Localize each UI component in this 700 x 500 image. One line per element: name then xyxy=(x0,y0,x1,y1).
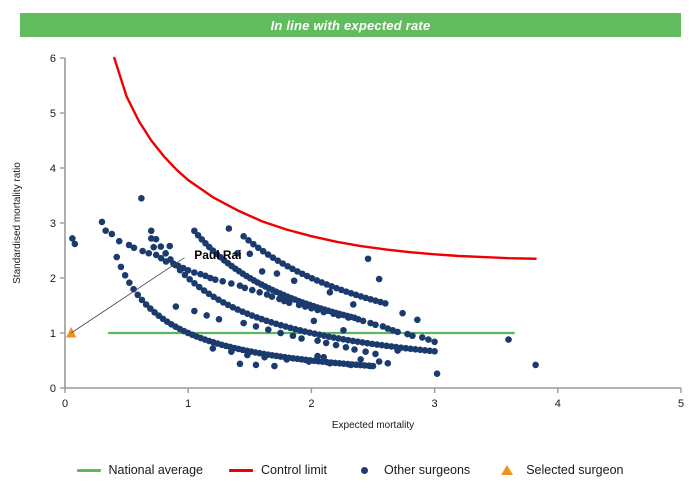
data-point xyxy=(367,363,374,370)
x-tick-label: 2 xyxy=(308,398,314,410)
data-point xyxy=(376,276,383,283)
data-point xyxy=(148,228,155,235)
data-point xyxy=(365,255,372,262)
data-point xyxy=(419,334,426,341)
data-point xyxy=(191,308,198,315)
data-point xyxy=(131,244,138,251)
line-icon xyxy=(77,469,101,472)
data-point xyxy=(126,279,133,286)
data-point xyxy=(348,362,355,369)
status-banner-text: In line with expected rate xyxy=(271,19,431,32)
legend-item-selected-surgeon[interactable]: Selected surgeon xyxy=(496,463,623,477)
y-tick-label: 3 xyxy=(50,218,56,230)
y-tick-label: 0 xyxy=(50,383,56,395)
data-point xyxy=(139,248,146,255)
data-point xyxy=(362,348,369,355)
data-point xyxy=(253,323,260,330)
data-point xyxy=(118,264,125,271)
data-point xyxy=(163,258,170,265)
data-point xyxy=(306,358,313,365)
data-point xyxy=(376,358,383,365)
data-point xyxy=(244,352,251,359)
data-point xyxy=(240,320,247,327)
data-point xyxy=(409,332,416,339)
legend-item-label: Selected surgeon xyxy=(526,463,623,477)
data-point xyxy=(271,363,278,370)
funnel-plot-svg: 0123456012345Expected mortalityStandardi… xyxy=(0,40,700,450)
data-point xyxy=(399,310,406,317)
data-point xyxy=(185,267,192,274)
line-icon xyxy=(229,469,253,472)
y-tick-label: 1 xyxy=(50,328,56,340)
data-point xyxy=(249,287,256,294)
x-tick-label: 1 xyxy=(185,398,191,410)
data-point xyxy=(414,317,421,324)
data-point xyxy=(532,362,539,369)
legend-item-label: Other surgeons xyxy=(384,463,470,477)
data-point xyxy=(162,250,169,257)
data-point xyxy=(311,318,318,325)
selected-surgeon-marker[interactable] xyxy=(66,327,76,338)
x-tick-label: 4 xyxy=(555,398,561,410)
data-point xyxy=(308,305,315,312)
data-point xyxy=(148,235,155,242)
data-point xyxy=(434,370,441,377)
data-point xyxy=(290,332,297,339)
data-point xyxy=(382,300,389,307)
data-point xyxy=(314,307,321,314)
legend-item-label: National average xyxy=(109,463,204,477)
triangle-marker-icon xyxy=(501,465,513,475)
data-point xyxy=(357,356,364,363)
y-tick-label: 5 xyxy=(50,108,56,120)
data-point xyxy=(384,360,391,367)
data-point xyxy=(351,346,358,353)
x-tick-label: 0 xyxy=(62,398,68,410)
x-tick-label: 3 xyxy=(432,398,438,410)
circle-marker-icon xyxy=(361,467,368,474)
data-point xyxy=(350,301,357,308)
status-banner: In line with expected rate xyxy=(20,13,681,37)
data-point xyxy=(314,353,321,360)
data-point xyxy=(286,299,293,306)
legend-item-other-surgeons[interactable]: Other surgeons xyxy=(353,463,470,477)
data-point xyxy=(216,316,223,323)
data-point xyxy=(333,342,340,349)
y-axis-title: Standardised mortality ratio xyxy=(12,162,23,284)
data-point xyxy=(327,289,334,296)
data-point xyxy=(226,225,233,232)
chart-legend: National averageControl limitOther surge… xyxy=(0,455,700,485)
data-point xyxy=(298,335,305,342)
data-point xyxy=(212,276,219,283)
data-point xyxy=(173,303,180,310)
legend-item-control-limit[interactable]: Control limit xyxy=(229,463,327,477)
data-point xyxy=(327,360,334,367)
data-point xyxy=(265,326,272,333)
data-point xyxy=(210,345,217,352)
data-point xyxy=(302,303,309,310)
data-point xyxy=(425,336,432,343)
data-point xyxy=(296,302,303,309)
data-point xyxy=(394,329,401,336)
data-point xyxy=(343,344,350,351)
data-point xyxy=(122,272,129,279)
data-point xyxy=(335,312,342,319)
funnel-plot-page: In line with expected rate 0123456012345… xyxy=(0,0,700,500)
data-point xyxy=(72,241,79,248)
data-point xyxy=(116,238,123,245)
data-point xyxy=(191,269,198,276)
y-tick-label: 2 xyxy=(50,273,56,285)
data-point xyxy=(247,251,254,258)
x-axis-title: Expected mortality xyxy=(332,420,414,431)
legend-item-label: Control limit xyxy=(261,463,327,477)
data-point xyxy=(150,244,157,251)
data-point xyxy=(340,327,347,334)
data-point xyxy=(372,351,379,358)
data-point xyxy=(431,348,438,355)
data-point xyxy=(158,243,165,250)
annotation-label-paul-rai: Paul Rai xyxy=(194,248,241,262)
control-limit-curve xyxy=(114,58,535,259)
data-point xyxy=(291,277,298,284)
data-point xyxy=(505,336,512,343)
data-point xyxy=(166,243,173,250)
chart-container: 0123456012345Expected mortalityStandardi… xyxy=(0,40,700,450)
data-point xyxy=(102,227,109,234)
data-point xyxy=(134,292,141,299)
data-point xyxy=(345,314,352,321)
data-point xyxy=(261,354,268,361)
data-point xyxy=(99,219,106,226)
data-point xyxy=(228,348,235,355)
x-tick-label: 5 xyxy=(678,398,684,410)
data-point xyxy=(253,362,260,369)
y-tick-label: 4 xyxy=(50,163,56,175)
data-point xyxy=(277,330,284,337)
data-point xyxy=(109,231,116,238)
data-point xyxy=(113,254,120,261)
data-point xyxy=(283,356,290,363)
data-point xyxy=(320,354,327,361)
other-surgeons-points xyxy=(69,195,539,377)
legend-item-national-average[interactable]: National average xyxy=(77,463,204,477)
data-point xyxy=(274,270,281,277)
data-point xyxy=(394,347,401,354)
data-point xyxy=(431,339,438,346)
data-point xyxy=(269,293,276,300)
data-point xyxy=(259,268,266,275)
data-point xyxy=(314,337,321,344)
data-point xyxy=(228,280,235,287)
y-tick-label: 6 xyxy=(50,53,56,65)
data-point xyxy=(203,312,210,319)
data-point xyxy=(237,361,244,368)
data-point xyxy=(138,195,145,202)
data-point xyxy=(219,278,226,285)
data-point xyxy=(145,250,152,257)
data-point xyxy=(360,318,367,325)
data-point xyxy=(372,321,379,328)
data-point xyxy=(323,340,330,347)
data-point xyxy=(320,309,327,316)
data-point xyxy=(242,285,249,292)
data-point xyxy=(256,289,263,296)
